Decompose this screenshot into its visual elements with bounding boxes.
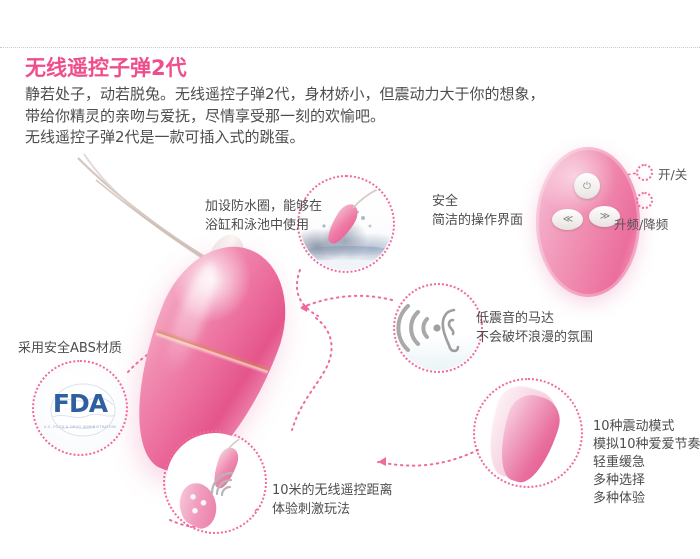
- tip-closeup: [473, 378, 583, 488]
- wireless-note-line-2: 体验刺激玩法: [272, 501, 393, 520]
- wireless-demo-inner: [166, 433, 264, 531]
- product-infographic: 无线遥控子弹2代 静若处子，动若脱兔。无线遥控子弹2代，身材娇小，但震动力大于你…: [0, 0, 700, 559]
- ear-sound-icon: [396, 286, 480, 370]
- power-callout-label: 开/关: [658, 164, 687, 183]
- waterproof-note: 加设防水圈，能够在 浴缸和泳池中使用: [205, 198, 322, 235]
- material-note: 采用安全ABS材质: [18, 340, 122, 359]
- top-divider: [0, 47, 700, 48]
- fda-seal-group: FDA U.S. FOOD & DRUG ADMINISTRATION: [32, 360, 128, 456]
- frequency-down-icon[interactable]: ≪: [552, 209, 583, 230]
- frequency-callout-label: 升频/降频: [614, 214, 668, 233]
- power-icon[interactable]: ⏻: [574, 173, 600, 199]
- frequency-callout-bubble: [636, 192, 653, 209]
- fda-logo-subtext: U.S. FOOD & DRUG ADMINISTRATION: [35, 425, 125, 429]
- modes-note-line-2: 模拟10种爱爱节奏: [593, 436, 700, 454]
- fda-seal-icon: FDA U.S. FOOD & DRUG ADMINISTRATION: [35, 363, 125, 453]
- motor-note: 低震音的马达 不会破坏浪漫的氛围: [476, 310, 593, 347]
- modes-note-line-5: 多种体验: [593, 490, 700, 508]
- tip-closeup-inner: [476, 381, 580, 485]
- modes-note-line-3: 轻重缓急: [593, 454, 700, 472]
- safety-note-line-2: 简洁的操作界面: [432, 212, 523, 231]
- wireless-note-line-1: 10米的无线遥控距离: [272, 482, 393, 501]
- mini-remote-button-3: [191, 507, 198, 514]
- safety-note-line-1: 安全: [432, 193, 523, 212]
- mini-remote-button-1: [189, 493, 196, 500]
- safety-note: 安全 简洁的操作界面: [432, 193, 523, 230]
- ear-sound-svg: [396, 286, 480, 370]
- lead-line-3: 无线遥控子弹2代是一款可插入式的跳蛋。: [25, 127, 685, 149]
- mini-remote-button-2: [200, 499, 207, 506]
- product-gloss: [157, 258, 224, 379]
- material-note-label: 采用安全ABS材质: [18, 340, 122, 359]
- motor-note-line-2: 不会破坏浪漫的氛围: [476, 329, 593, 348]
- page-title: 无线遥控子弹2代: [25, 52, 187, 82]
- waterproof-note-line-2: 浴缸和泳池中使用: [205, 217, 322, 236]
- lead-line-1: 静若处子，动若脱兔。无线遥控子弹2代，身材娇小，但震动力大于你的想象，: [25, 84, 685, 106]
- waterproof-note-line-1: 加设防水圈，能够在: [205, 198, 322, 217]
- wireless-demo-group: [163, 430, 267, 534]
- lead-line-2: 带给你精灵的亲吻与爱抚，尽情享受那一刻的欢愉吧。: [25, 106, 685, 128]
- low-noise-icon-group: [393, 283, 483, 373]
- modes-note: 10种震动模式 模拟10种爱爱节奏 轻重缓急 多种选择 多种体验: [593, 418, 700, 508]
- modes-note-line-4: 多种选择: [593, 472, 700, 490]
- lead-paragraph: 静若处子，动若脱兔。无线遥控子弹2代，身材娇小，但震动力大于你的想象， 带给你精…: [25, 84, 685, 149]
- motor-note-line-1: 低震音的马达: [476, 310, 593, 329]
- wireless-note: 10米的无线遥控距离 体验刺激玩法: [272, 482, 393, 519]
- fda-logo-text: FDA: [35, 389, 125, 418]
- modes-note-line-1: 10种震动模式: [593, 418, 700, 436]
- wireless-waves-icon: [208, 467, 242, 497]
- power-callout-bubble: [636, 164, 653, 181]
- mini-product-cord: [223, 435, 247, 455]
